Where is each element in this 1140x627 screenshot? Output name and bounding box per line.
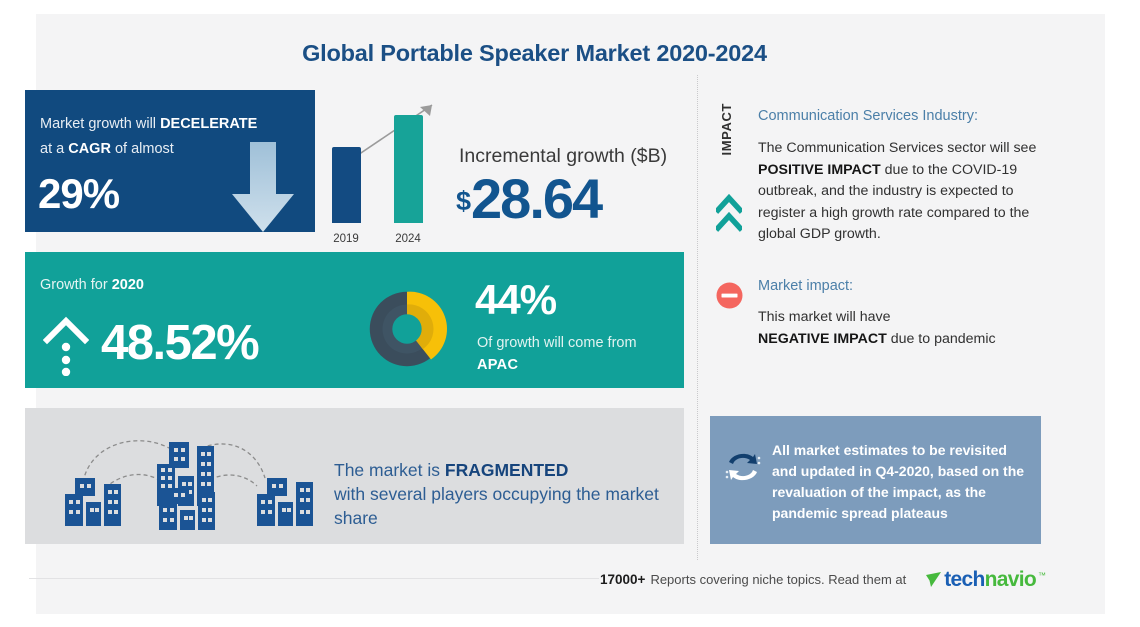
- reports-count: 17000+: [600, 572, 645, 587]
- no-entry-icon: [716, 282, 743, 309]
- positive-impact-emphasis: POSITIVE IMPACT: [758, 162, 881, 178]
- growth-label-year: 2020: [112, 277, 144, 293]
- market-impact-body: This market will have NEGATIVE IMPACT du…: [758, 306, 1058, 350]
- bar-label-2019: 2019: [326, 233, 366, 245]
- cagr-emphasis: CAGR: [68, 141, 111, 157]
- currency-symbol: $: [456, 188, 471, 215]
- apac-caption: Of growth will come from: [477, 335, 637, 351]
- logo-navio: navio: [985, 568, 1036, 591]
- market-body-part2: due to pandemic: [887, 331, 996, 347]
- market-impact-heading: Market impact:: [758, 278, 853, 294]
- industry-body: The Communication Services sector will s…: [758, 138, 1058, 246]
- apac-region-label: APAC: [477, 357, 518, 373]
- cagr-line2-suffix: of almost: [115, 141, 174, 157]
- footer-divider: [29, 578, 599, 579]
- impact-vertical-label: IMPACT: [719, 103, 739, 155]
- cagr-value: 29%: [38, 170, 119, 218]
- industry-body-part1: The Communication Services sector will s…: [758, 140, 1036, 156]
- fragmented-emphasis: FRAGMENTED: [445, 460, 568, 480]
- page-title: Global Portable Speaker Market 2020-2024: [0, 40, 1069, 67]
- cagr-line1-prefix: Market growth will: [40, 116, 156, 132]
- footer-text: Reports covering niche topics. Read them…: [650, 572, 906, 587]
- market-body-part1: This market will have: [758, 309, 890, 325]
- cagr-decelerate-emphasis: DECELERATE: [160, 116, 257, 132]
- down-arrow-icon: [228, 142, 298, 232]
- bar-2019: [332, 147, 361, 223]
- double-chevron-up-icon: [716, 190, 742, 238]
- logo-tech: tech: [944, 568, 984, 591]
- logo-trademark: ™: [1038, 571, 1046, 580]
- incremental-growth-bar-chart: 2019 2024: [322, 95, 452, 247]
- bar-2024: [394, 115, 423, 223]
- industry-heading: Communication Services Industry:: [758, 108, 978, 124]
- growth-value: 48.52%: [101, 315, 258, 371]
- logo-wordmark: technavio: [944, 569, 1036, 590]
- apac-donut-chart: [358, 280, 456, 378]
- cagr-panel: Market growth will DECELERATE at a CAGR …: [25, 90, 315, 232]
- note-box: All market estimates to be revisited and…: [710, 416, 1041, 544]
- fragmented-suffix: with several players occupying the marke…: [334, 484, 659, 528]
- arrow-up-dots-icon: [43, 314, 89, 376]
- buildings-network-icon: [61, 426, 341, 530]
- bar-label-2024: 2024: [388, 233, 428, 245]
- incremental-growth-number: 28.64: [471, 172, 601, 225]
- arrow-logo-icon: [925, 571, 942, 588]
- growth-label: Growth for 2020: [40, 277, 144, 293]
- cagr-line1: Market growth will DECELERATE: [40, 116, 257, 132]
- cagr-line2-prefix: at a: [40, 141, 64, 157]
- fragmented-text: The market is FRAGMENTED with several pl…: [334, 458, 664, 530]
- column-divider: [697, 75, 698, 560]
- fragmented-panel: The market is FRAGMENTED with several pl…: [25, 408, 684, 544]
- growth-label-prefix: Growth for: [40, 277, 108, 293]
- fragmented-prefix: The market is: [334, 460, 440, 480]
- infographic-canvas: Global Portable Speaker Market 2020-2024…: [0, 0, 1140, 627]
- footer: 17000+ Reports covering niche topics. Re…: [600, 566, 1046, 592]
- cagr-line2: at a CAGR of almost: [40, 141, 174, 157]
- growth-panel: Growth for 2020 48.52% 44% Of growth wil…: [25, 252, 684, 388]
- negative-impact-emphasis: NEGATIVE IMPACT: [758, 331, 887, 347]
- apac-percentage: 44%: [475, 276, 556, 324]
- refresh-icon: [722, 446, 764, 488]
- note-text: All market estimates to be revisited and…: [772, 440, 1030, 524]
- incremental-growth-value: $ 28.64: [456, 172, 601, 225]
- technavio-logo[interactable]: technavio ™: [925, 569, 1046, 590]
- incremental-growth-label: Incremental growth ($B): [459, 145, 667, 168]
